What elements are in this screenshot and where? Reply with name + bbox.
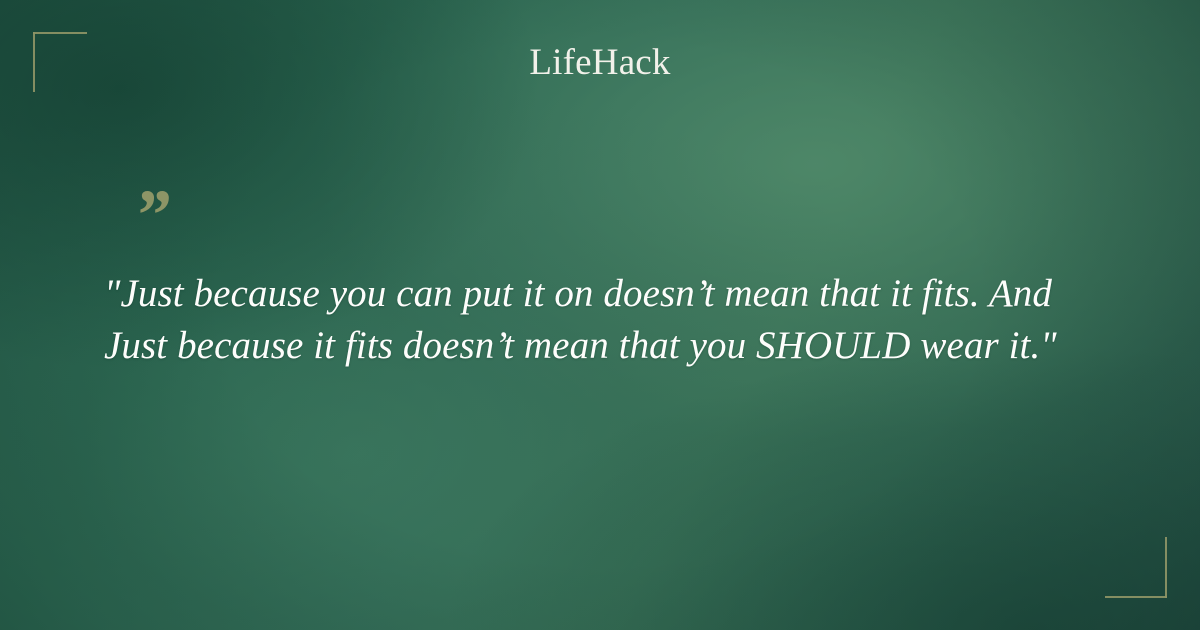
quote-block: ” "Just because you can put it on doesn’… bbox=[104, 188, 1114, 372]
quote-card: LifeHack ” "Just because you can put it … bbox=[0, 0, 1200, 630]
corner-bracket-bottom-right-vertical-line bbox=[1165, 537, 1167, 598]
corner-bracket-bottom-right-icon bbox=[1105, 537, 1167, 598]
corner-bracket-top-left-horizontal-line bbox=[33, 32, 87, 34]
quotation-mark-icon: ” bbox=[134, 188, 1114, 244]
corner-bracket-bottom-right-horizontal-line bbox=[1105, 596, 1167, 598]
brand-logo: LifeHack bbox=[0, 41, 1200, 85]
quote-text: "Just because you can put it on doesn’t … bbox=[104, 268, 1114, 372]
